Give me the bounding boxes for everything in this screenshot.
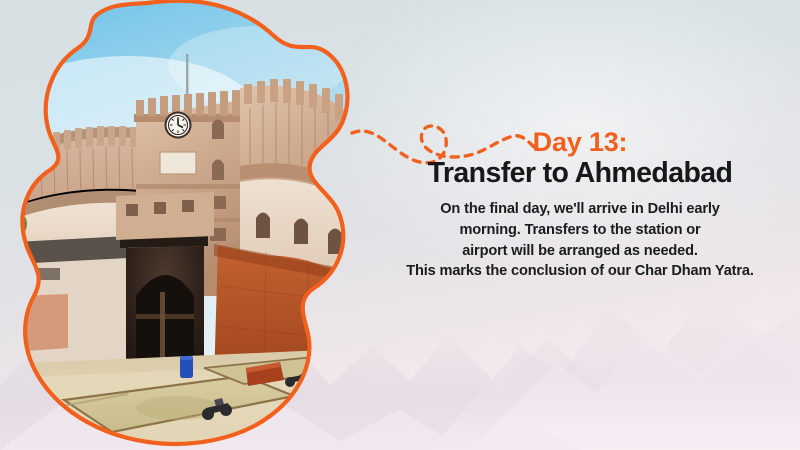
destination-photo	[8, 0, 368, 450]
blue-drum	[180, 356, 193, 378]
body-line: This marks the conclusion of our Char Dh…	[368, 261, 792, 282]
body-text: On the final day, we'll arrive in Delhi …	[368, 199, 792, 282]
body-line: On the final day, we'll arrive in Delhi …	[368, 199, 792, 220]
photo-content	[0, 0, 368, 450]
body-line: morning. Transfers to the station or	[368, 220, 792, 241]
page-title: Transfer to Ahmedabad	[368, 158, 792, 190]
clock-face	[166, 113, 191, 138]
slide-canvas: Day 13: Transfer to Ahmedabad On the fin…	[0, 0, 800, 450]
text-column: Day 13: Transfer to Ahmedabad On the fin…	[368, 128, 792, 282]
body-line: airport will be arranged as needed.	[368, 241, 792, 262]
day-label: Day 13:	[368, 128, 792, 156]
